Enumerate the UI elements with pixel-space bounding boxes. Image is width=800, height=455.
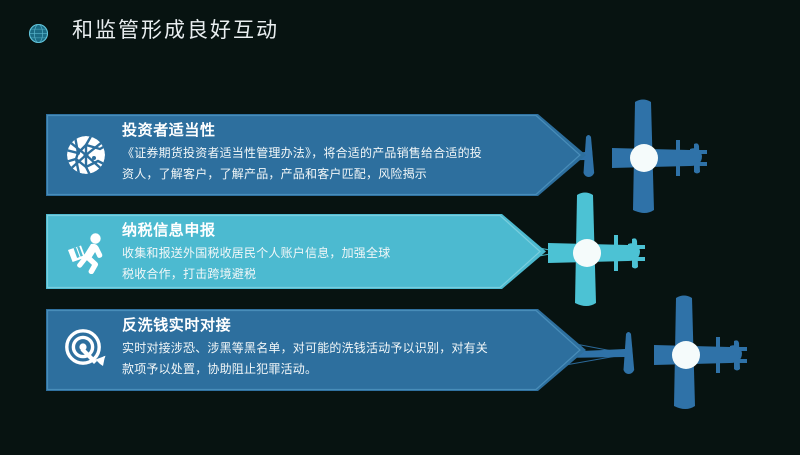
panel-text-block: 反洗钱实时对接 实时对接涉恐、涉黑等黑名单，对可能的洗钱活动予以识别，对有关 款… — [122, 316, 586, 380]
panel-text-block: 投资者适当性 《证券期货投资者适当性管理办法》，将合适的产品销售给合适的投 资人… — [122, 121, 586, 185]
running-person-briefcase-icon — [64, 230, 108, 274]
panel-list: 投资者适当性 《证券期货投资者适当性管理办法》，将合适的产品销售给合适的投 资人… — [0, 0, 800, 450]
panel-title: 纳税信息申报 — [122, 221, 546, 241]
panel-anti-money-laundering[interactable]: 反洗钱实时对接 实时对接涉恐、涉黑等黑名单，对可能的洗钱活动予以识别，对有关 款… — [46, 309, 586, 391]
panel-body: 收集和报送外国税收居民个人账户信息，加强全球 税收合作，打击跨境避税 — [122, 243, 546, 285]
panel-body-line: 资人，了解客户，了解产品，产品和客户匹配，风险揭示 — [122, 164, 552, 185]
panel-title: 投资者适当性 — [122, 121, 586, 141]
panel-body-line: 实时对接涉恐、涉黑等黑名单，对可能的洗钱活动予以识别，对有关 — [122, 338, 552, 359]
panel-investor-suitability[interactable]: 投资者适当性 《证券期货投资者适当性管理办法》，将合适的产品销售给合适的投 资人… — [46, 114, 586, 196]
panel-body-line: 款项予以处置，协助阻止犯罪活动。 — [122, 359, 552, 380]
globe-network-icon — [64, 133, 108, 177]
panel-body-line: 税收合作，打击跨境避税 — [122, 264, 546, 285]
panel-text-block: 纳税信息申报 收集和报送外国税收居民个人账户信息，加强全球 税收合作，打击跨境避… — [122, 221, 546, 285]
target-dart-icon — [64, 328, 108, 372]
panel-body: 实时对接涉恐、涉黑等黑名单，对可能的洗钱活动予以识别，对有关 款项予以处置，协助… — [122, 338, 552, 380]
panel-title: 反洗钱实时对接 — [122, 316, 586, 336]
panel-body-line: 收集和报送外国税收居民个人账户信息，加强全球 — [122, 243, 546, 264]
panel-body: 《证券期货投资者适当性管理办法》，将合适的产品销售给合适的投 资人，了解客户，了… — [122, 143, 552, 185]
panel-tax-information-reporting[interactable]: 纳税信息申报 收集和报送外国税收居民个人账户信息，加强全球 税收合作，打击跨境避… — [46, 214, 546, 289]
panel-body-line: 《证券期货投资者适当性管理办法》，将合适的产品销售给合适的投 — [122, 143, 552, 164]
